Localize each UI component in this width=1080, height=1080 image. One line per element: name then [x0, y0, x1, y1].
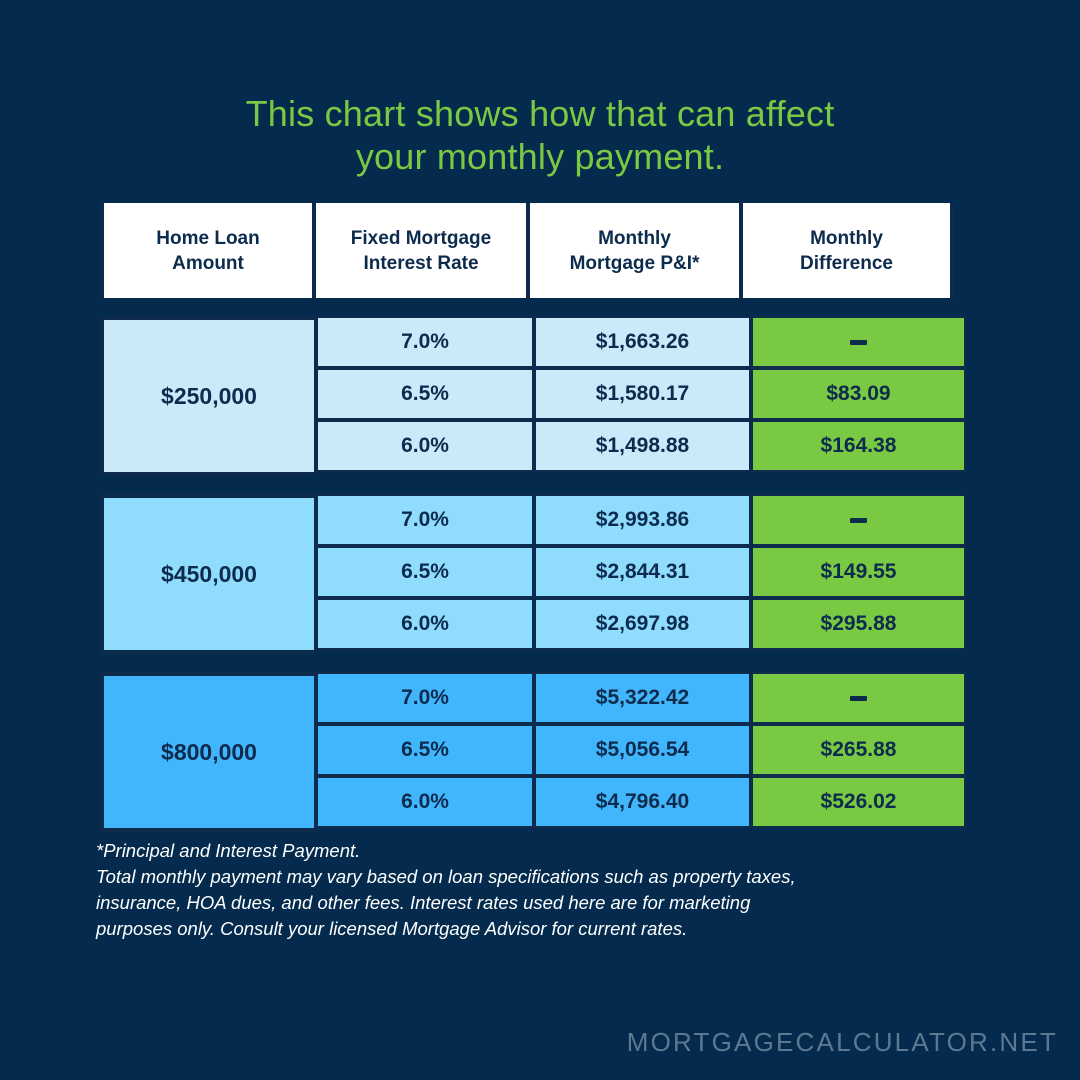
table-row: 6.5% $2,844.31 $149.55 [316, 546, 966, 598]
column-header-monthly-pi: Monthly Mortgage P&I* [526, 203, 743, 298]
loan-tier-rows: 7.0% $2,993.86 6.5% $2,844.31 $149.55 6.… [316, 494, 966, 654]
monthly-payment-cell: $5,322.42 [534, 672, 751, 724]
dash-icon [850, 696, 867, 701]
page-title: This chart shows how that can affect you… [0, 92, 1080, 178]
table-row: 6.0% $2,697.98 $295.88 [316, 598, 966, 650]
loan-tier-group: $250,000 7.0% $1,663.26 6.5% $1,580.17 $… [100, 316, 966, 476]
table-row: 6.0% $4,796.40 $526.02 [316, 776, 966, 828]
monthly-difference-cell: $526.02 [751, 776, 966, 828]
loan-amount-cell: $250,000 [100, 316, 316, 476]
table-header-row: Home Loan Amount Fixed Mortgage Interest… [100, 203, 966, 298]
loan-tier-group: $800,000 7.0% $5,322.42 6.5% $5,056.54 $… [100, 672, 966, 832]
loan-tier-group: $450,000 7.0% $2,993.86 6.5% $2,844.31 $… [100, 494, 966, 654]
footnote-disclaimer: *Principal and Interest Payment. Total m… [96, 838, 986, 942]
monthly-payment-cell: $2,697.98 [534, 598, 751, 650]
monthly-payment-cell: $2,993.86 [534, 494, 751, 546]
monthly-difference-cell: $149.55 [751, 546, 966, 598]
row-group-spacer [100, 298, 966, 316]
table-row: 7.0% $1,663.26 [316, 316, 966, 368]
dash-icon [850, 518, 867, 523]
loan-tier-rows: 7.0% $1,663.26 6.5% $1,580.17 $83.09 6.0… [316, 316, 966, 476]
monthly-payment-cell: $1,663.26 [534, 316, 751, 368]
interest-rate-cell: 6.0% [316, 598, 534, 650]
monthly-difference-cell: $265.88 [751, 724, 966, 776]
interest-rate-cell: 7.0% [316, 316, 534, 368]
monthly-payment-cell: $1,580.17 [534, 368, 751, 420]
loan-amount-cell: $800,000 [100, 672, 316, 832]
interest-rate-cell: 6.5% [316, 368, 534, 420]
column-header-loan-amount: Home Loan Amount [100, 203, 316, 298]
monthly-difference-cell [751, 672, 966, 724]
table-row: 6.0% $1,498.88 $164.38 [316, 420, 966, 472]
interest-rate-cell: 6.5% [316, 546, 534, 598]
site-watermark: MORTGAGECALCULATOR.NET [627, 1027, 1058, 1058]
table-row: 7.0% $2,993.86 [316, 494, 966, 546]
monthly-difference-cell [751, 316, 966, 368]
row-group-spacer [100, 476, 966, 494]
table-row: 7.0% $5,322.42 [316, 672, 966, 724]
infographic-canvas: This chart shows how that can affect you… [0, 0, 1080, 1080]
loan-tier-rows: 7.0% $5,322.42 6.5% $5,056.54 $265.88 6.… [316, 672, 966, 832]
monthly-payment-cell: $4,796.40 [534, 776, 751, 828]
monthly-difference-cell: $83.09 [751, 368, 966, 420]
interest-rate-cell: 7.0% [316, 494, 534, 546]
monthly-payment-cell: $2,844.31 [534, 546, 751, 598]
monthly-difference-cell: $164.38 [751, 420, 966, 472]
monthly-payment-cell: $1,498.88 [534, 420, 751, 472]
dash-icon [850, 340, 867, 345]
row-group-spacer [100, 654, 966, 672]
interest-rate-cell: 6.0% [316, 420, 534, 472]
monthly-difference-cell [751, 494, 966, 546]
interest-rate-cell: 6.0% [316, 776, 534, 828]
table-row: 6.5% $5,056.54 $265.88 [316, 724, 966, 776]
table-row: 6.5% $1,580.17 $83.09 [316, 368, 966, 420]
mortgage-comparison-table: Home Loan Amount Fixed Mortgage Interest… [100, 203, 966, 832]
monthly-difference-cell: $295.88 [751, 598, 966, 650]
monthly-payment-cell: $5,056.54 [534, 724, 751, 776]
column-header-interest-rate: Fixed Mortgage Interest Rate [312, 203, 530, 298]
interest-rate-cell: 6.5% [316, 724, 534, 776]
interest-rate-cell: 7.0% [316, 672, 534, 724]
loan-amount-cell: $450,000 [100, 494, 316, 654]
column-header-monthly-difference: Monthly Difference [739, 203, 954, 298]
